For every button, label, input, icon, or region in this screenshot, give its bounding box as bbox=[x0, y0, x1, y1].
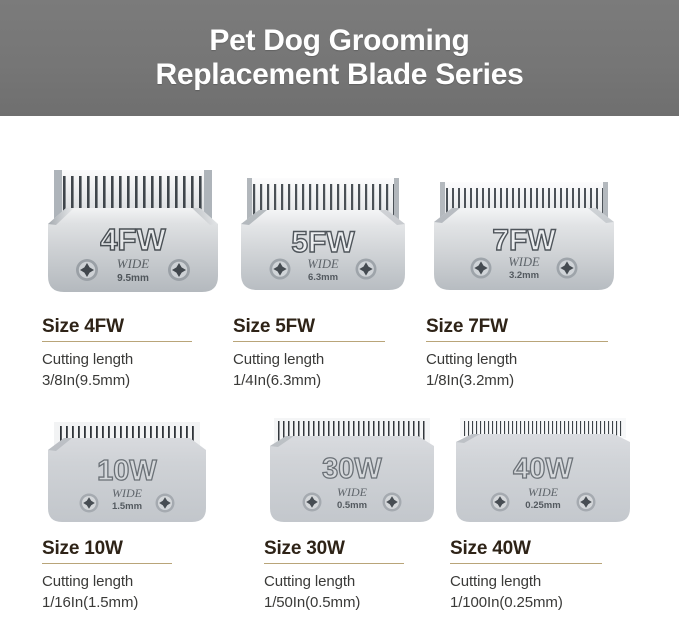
blade-wide-mark: WIDE bbox=[508, 255, 540, 269]
blade-illustration: 5FW WIDE 6.3mm bbox=[233, 164, 413, 299]
screw-icon-left bbox=[491, 493, 510, 512]
cutting-length-label: Cutting length bbox=[450, 571, 655, 592]
product-card-30w[interactable]: 30W WIDE 0.5mm Size 30W bbox=[264, 416, 454, 637]
cutting-length-value: 1/8In(3.2mm) bbox=[426, 370, 626, 391]
blade-wide-mark: WIDE bbox=[112, 486, 143, 500]
blade-wide-mark: WIDE bbox=[337, 485, 368, 499]
product-card-10w[interactable]: 10W WIDE 1.5mm Size 10W bbox=[42, 416, 226, 637]
screw-icon-right bbox=[156, 494, 175, 513]
screw-icon-left bbox=[270, 259, 291, 280]
blade-image-30w: 30W WIDE 0.5mm bbox=[264, 416, 440, 534]
screw-icon-right bbox=[383, 493, 402, 512]
blade-illustration: 30W WIDE 0.5mm bbox=[264, 416, 440, 534]
header-title-line-1: Pet Dog Grooming bbox=[209, 24, 469, 58]
title-underline bbox=[450, 563, 602, 564]
blade-engraving-text: 7FW bbox=[492, 224, 556, 257]
header-title-line-2: Replacement Blade Series bbox=[156, 58, 524, 92]
blade-illustration: 4FW WIDE 9.5mm bbox=[42, 164, 224, 299]
blade-image-4fw: 4FW WIDE 9.5mm bbox=[42, 164, 224, 299]
blade-engraving-text: 30W bbox=[322, 453, 382, 485]
title-underline bbox=[42, 341, 192, 342]
cutting-length-value: 1/100In(0.25mm) bbox=[450, 592, 655, 613]
blade-image-5fw: 5FW WIDE 6.3mm bbox=[233, 164, 413, 299]
cutting-length-value: 1/16In(1.5mm) bbox=[42, 592, 226, 613]
screw-icon-left bbox=[76, 259, 98, 281]
screw-icon-left bbox=[471, 258, 492, 279]
product-info-7fw: Size 7FW Cutting length 1/8In(3.2mm) bbox=[426, 316, 626, 391]
blade-image-40w: 40W WIDE 0.25mm bbox=[450, 416, 636, 534]
product-card-4fw[interactable]: 4FW WIDE 9.5mm bbox=[42, 116, 234, 416]
screw-icon-left bbox=[80, 494, 99, 513]
cutting-length-label: Cutting length bbox=[233, 349, 425, 370]
cutting-length-label: Cutting length bbox=[42, 349, 234, 370]
screw-icon-right bbox=[557, 258, 578, 279]
product-info-4fw: Size 4FW Cutting length 3/8In(9.5mm) bbox=[42, 316, 234, 391]
blade-mm-text: 1.5mm bbox=[112, 501, 142, 512]
product-size-title: Size 10W bbox=[42, 538, 226, 560]
cutting-length-label: Cutting length bbox=[264, 571, 454, 592]
product-row-top: 4FW WIDE 9.5mm bbox=[0, 116, 679, 416]
blade-image-7fw: 7FW WIDE 3.2mm bbox=[426, 164, 622, 299]
title-underline bbox=[233, 341, 385, 342]
cutting-length-value: 1/50In(0.5mm) bbox=[264, 592, 454, 613]
blade-mm-text: 0.25mm bbox=[525, 500, 560, 511]
blade-engraving-text: 5FW bbox=[291, 226, 355, 259]
blade-wide-mark: WIDE bbox=[117, 256, 150, 271]
product-size-title: Size 30W bbox=[264, 538, 454, 560]
cutting-length-value: 1/4In(6.3mm) bbox=[233, 370, 425, 391]
product-row-bottom: 10W WIDE 1.5mm Size 10W bbox=[0, 416, 679, 637]
cutting-length-label: Cutting length bbox=[426, 349, 626, 370]
product-size-title: Size 40W bbox=[450, 538, 655, 560]
blade-mm-text: 6.3mm bbox=[308, 272, 338, 283]
title-underline bbox=[426, 341, 608, 342]
blade-illustration: 40W WIDE 0.25mm bbox=[450, 416, 636, 534]
screw-icon-left bbox=[303, 493, 322, 512]
product-info-40w: Size 40W Cutting length 1/100In(0.25mm) bbox=[450, 538, 655, 613]
header-banner: Pet Dog Grooming Replacement Blade Serie… bbox=[0, 0, 679, 116]
cutting-length-value: 3/8In(9.5mm) bbox=[42, 370, 234, 391]
product-size-title: Size 7FW bbox=[426, 316, 626, 338]
blade-engraving-text: 10W bbox=[97, 455, 157, 487]
product-size-title: Size 4FW bbox=[42, 316, 234, 338]
screw-icon-right bbox=[577, 493, 596, 512]
blade-mm-text: 9.5mm bbox=[117, 273, 149, 284]
title-underline bbox=[264, 563, 404, 564]
product-info-30w: Size 30W Cutting length 1/50In(0.5mm) bbox=[264, 538, 454, 613]
title-underline bbox=[42, 563, 172, 564]
blade-mm-text: 3.2mm bbox=[509, 270, 539, 281]
product-card-5fw[interactable]: 5FW WIDE 6.3mm Size 5FW bbox=[233, 116, 425, 416]
blade-image-10w: 10W WIDE 1.5mm bbox=[42, 416, 212, 534]
blade-wide-mark: WIDE bbox=[307, 257, 339, 271]
screw-icon-right bbox=[168, 259, 190, 281]
product-info-5fw: Size 5FW Cutting length 1/4In(6.3mm) bbox=[233, 316, 425, 391]
blade-illustration: 10W WIDE 1.5mm bbox=[42, 416, 212, 534]
screw-icon-right bbox=[356, 259, 377, 280]
product-card-7fw[interactable]: 7FW WIDE 3.2mm Size 7FW bbox=[426, 116, 626, 416]
cutting-length-label: Cutting length bbox=[42, 571, 226, 592]
blade-mm-text: 0.5mm bbox=[337, 500, 367, 511]
blade-illustration: 7FW WIDE 3.2mm bbox=[426, 164, 622, 299]
product-size-title: Size 5FW bbox=[233, 316, 425, 338]
blade-engraving-text: 40W bbox=[513, 453, 573, 485]
blade-engraving-text: 4FW bbox=[100, 222, 166, 257]
product-card-40w[interactable]: 40W WIDE 0.25mm Size 40W bbox=[450, 416, 655, 637]
product-grid: 4FW WIDE 9.5mm bbox=[0, 116, 679, 637]
blade-wide-mark: WIDE bbox=[528, 485, 559, 499]
product-info-10w: Size 10W Cutting length 1/16In(1.5mm) bbox=[42, 538, 226, 613]
